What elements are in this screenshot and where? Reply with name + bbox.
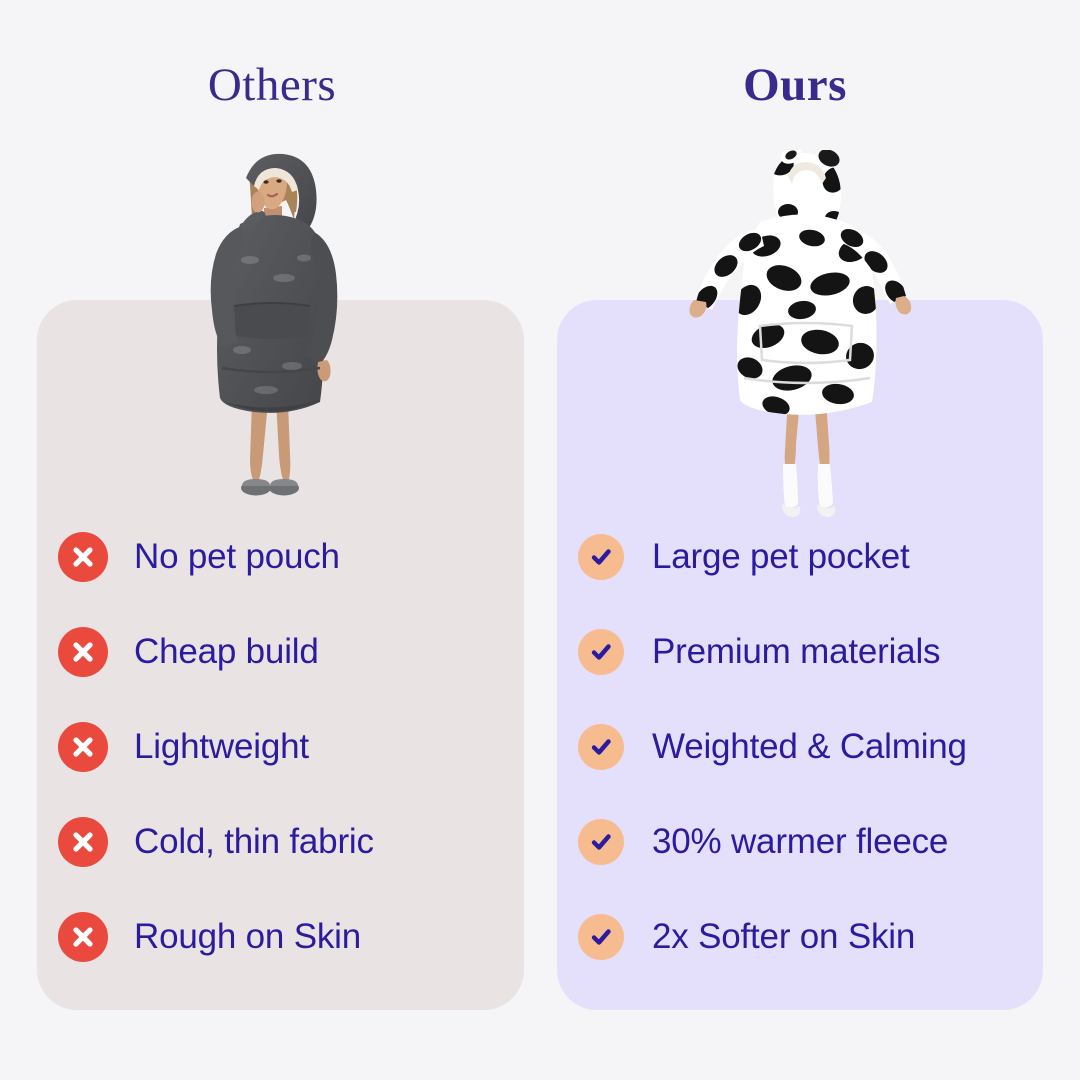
cross-icon: [58, 532, 108, 582]
product-image-grey-hoodie: [180, 150, 365, 525]
list-item: 30% warmer fleece: [578, 817, 1038, 912]
check-icon: [578, 724, 624, 770]
list-item-label: 30% warmer fleece: [652, 817, 948, 867]
cross-icon: [58, 817, 108, 867]
cross-icon: [58, 722, 108, 772]
list-item: Lightweight: [58, 722, 508, 817]
list-item-label: 2x Softer on Skin: [652, 912, 915, 962]
list-item-label: Large pet pocket: [652, 532, 910, 582]
list-item-label: Lightweight: [134, 722, 309, 772]
check-icon: [578, 629, 624, 675]
check-icon: [578, 534, 624, 580]
column-headers: Others Ours: [0, 0, 1080, 150]
check-icon: [578, 819, 624, 865]
product-image-cow-print-hoodie: [688, 150, 913, 525]
list-item-label: Rough on Skin: [134, 912, 361, 962]
cross-icon: [58, 912, 108, 962]
column-title-ours: Ours: [595, 62, 995, 109]
list-item: Cold, thin fabric: [58, 817, 508, 912]
list-item-label: Cold, thin fabric: [134, 817, 374, 867]
list-item: Cheap build: [58, 627, 508, 722]
list-item: Rough on Skin: [58, 912, 508, 1007]
list-item: No pet pouch: [58, 532, 508, 627]
list-item: Weighted & Calming: [578, 722, 1038, 817]
list-item-label: Premium materials: [652, 627, 940, 677]
column-title-others: Others: [72, 62, 472, 109]
list-item: Premium materials: [578, 627, 1038, 722]
list-item: Large pet pocket: [578, 532, 1038, 627]
list-item-label: Weighted & Calming: [652, 722, 967, 772]
feature-list-ours: Large pet pocket Premium materials Weigh…: [578, 532, 1038, 1007]
cross-icon: [58, 627, 108, 677]
check-icon: [578, 914, 624, 960]
list-item: 2x Softer on Skin: [578, 912, 1038, 1007]
list-item-label: No pet pouch: [134, 532, 340, 582]
feature-list-others: No pet pouch Cheap build Lightweight Col…: [58, 532, 508, 1007]
list-item-label: Cheap build: [134, 627, 319, 677]
